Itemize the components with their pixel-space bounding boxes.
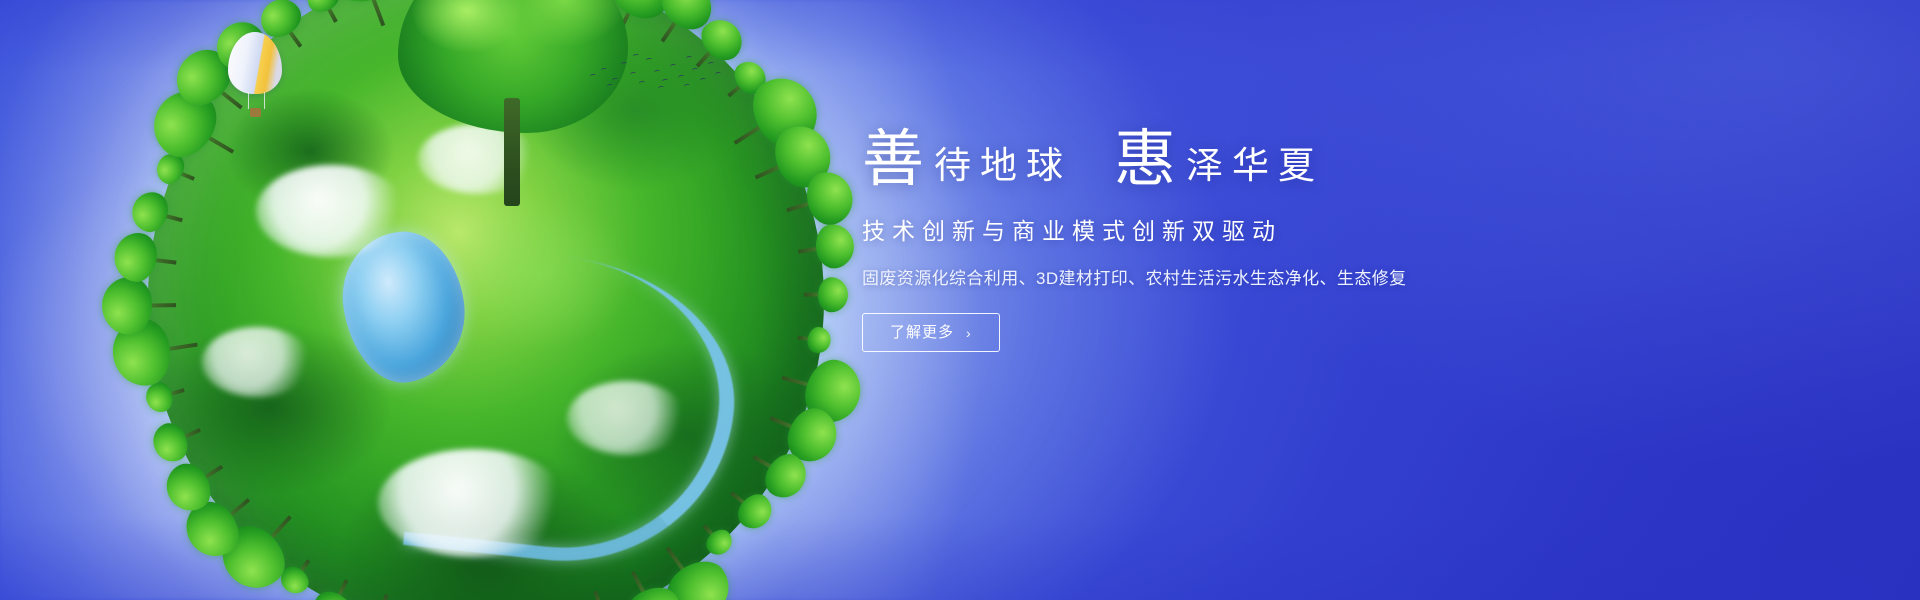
bird-icon xyxy=(658,85,665,90)
bird-icon xyxy=(646,57,653,62)
bird-icon xyxy=(633,53,640,58)
learn-more-button[interactable]: 了解更多 › xyxy=(862,313,1000,352)
bird-icon xyxy=(621,61,628,66)
planet-cloud xyxy=(202,327,312,397)
planet-cloud xyxy=(256,165,406,257)
banner-description: 固废资源化综合利用、3D建材打印、农村生活污水生态净化、生态修复 xyxy=(862,264,1482,289)
bird-icon xyxy=(662,78,669,83)
balloon-envelope xyxy=(228,32,282,94)
bird-icon xyxy=(692,67,699,72)
bird-icon xyxy=(708,61,715,66)
bird-icon xyxy=(670,63,677,68)
headline-rest-1: 待地球 xyxy=(924,147,1072,190)
bird-flock-icon xyxy=(588,48,718,94)
bird-icon xyxy=(601,67,608,72)
bird-icon xyxy=(686,55,693,60)
bird-icon xyxy=(654,69,661,74)
hero-tree-trunk xyxy=(504,98,520,206)
hot-air-balloon-icon xyxy=(228,32,282,128)
bird-icon xyxy=(630,71,637,76)
bird-icon xyxy=(684,83,691,88)
banner-content: 善 待地球 惠 泽华夏 技术创新与商业模式创新双驱动 固废资源化综合利用、3D建… xyxy=(862,128,1482,352)
bird-icon xyxy=(612,77,619,82)
hero-tree-icon xyxy=(398,0,628,198)
bird-icon xyxy=(607,83,614,88)
bird-icon xyxy=(678,74,685,79)
balloon-basket xyxy=(250,108,261,117)
learn-more-label: 了解更多 xyxy=(890,325,954,340)
page-title: 善 待地球 惠 泽华夏 xyxy=(862,128,1482,190)
bird-icon xyxy=(590,73,597,78)
bird-icon xyxy=(639,80,646,85)
headline-rest-2: 泽华夏 xyxy=(1176,147,1324,190)
planet-cloud xyxy=(378,449,568,557)
chevron-right-icon: › xyxy=(966,326,972,340)
balloon-ropes xyxy=(248,92,265,109)
banner-subtitle: 技术创新与商业模式创新双驱动 xyxy=(862,212,1482,246)
bird-icon xyxy=(700,77,707,82)
hero-banner: 善 待地球 惠 泽华夏 技术创新与商业模式创新双驱动 固废资源化综合利用、3D建… xyxy=(0,0,1920,600)
headline-char-1: 善 xyxy=(862,128,924,190)
headline-char-2: 惠 xyxy=(1114,128,1176,190)
planet-cloud xyxy=(567,381,687,455)
